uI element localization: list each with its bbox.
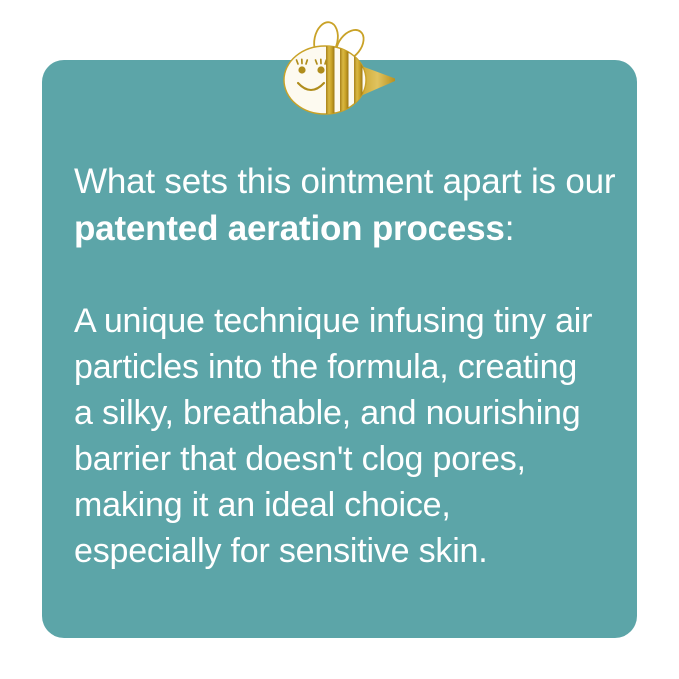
body-line-6: especially for sensitive skin.: [74, 528, 634, 574]
headline-line-2: patented aeration process:: [74, 205, 634, 252]
headline-colon: :: [505, 209, 515, 248]
headline-emphasis: patented aeration process: [74, 209, 505, 248]
page-title: What sets this ointment apart is our pat…: [74, 158, 634, 252]
body-paragraph: A unique technique infusing tiny air par…: [74, 252, 634, 574]
card-text-content: What sets this ointment apart is our pat…: [74, 158, 634, 574]
promo-graphic: What sets this ointment apart is our pat…: [0, 0, 679, 679]
bee-eye-left: [298, 66, 305, 73]
body-line-4: barrier that doesn't clog pores,: [74, 436, 634, 482]
headline-line-1: What sets this ointment apart is our: [74, 158, 634, 205]
bee-mascot-icon: [268, 14, 408, 118]
body-line-2: particles into the formula, creating: [74, 344, 634, 390]
bee-eye-right: [317, 66, 324, 73]
bee-body: [284, 46, 366, 114]
body-line-5: making it an ideal choice,: [74, 482, 634, 528]
body-line-1: A unique technique infusing tiny air: [74, 298, 634, 344]
body-line-3: a silky, breathable, and nourishing: [74, 390, 634, 436]
